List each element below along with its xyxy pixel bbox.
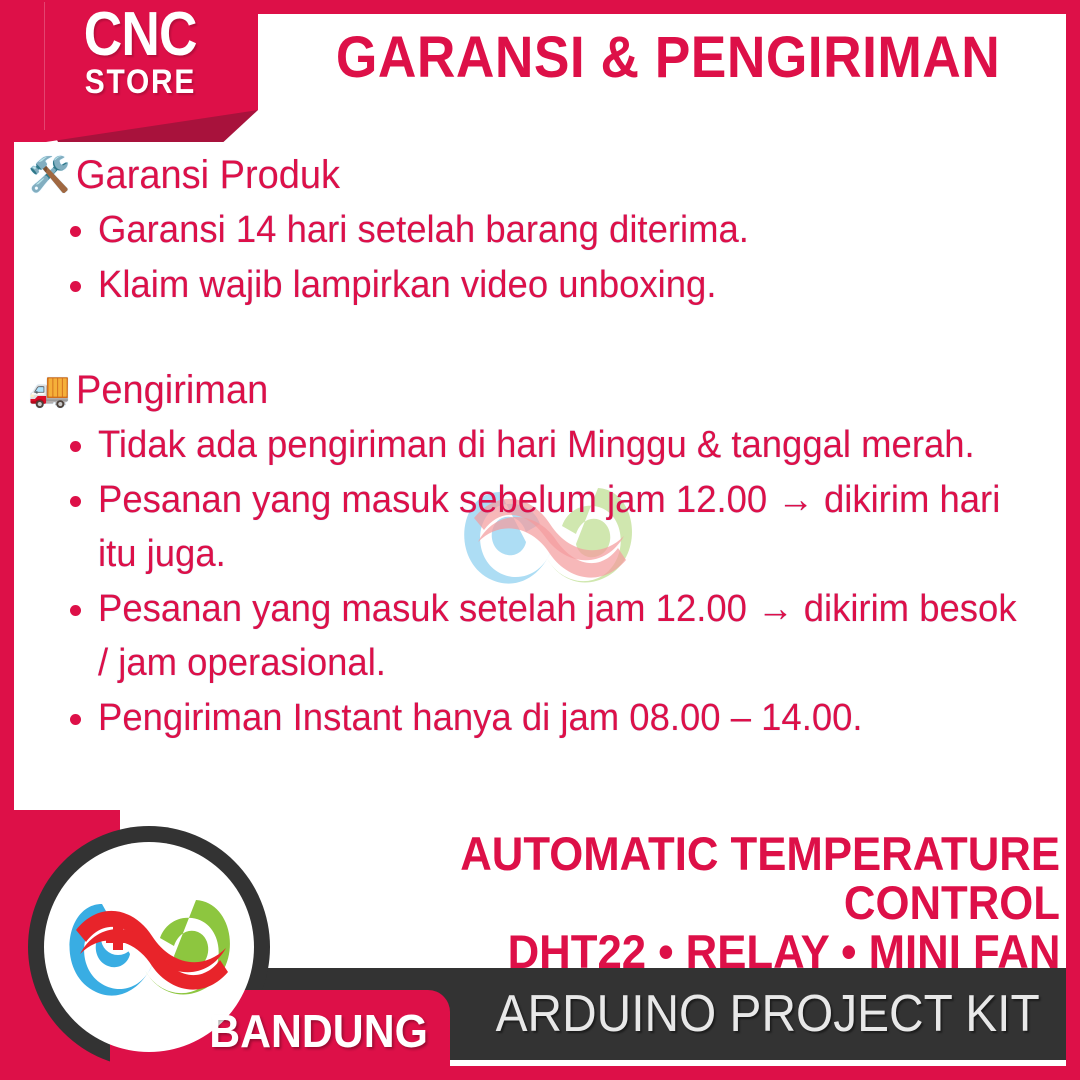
bottom-bar-label: ARDUINO PROJECT KIT [470, 968, 1066, 1060]
policy-content: 🛠️ Garansi Produk Garansi 14 hari setela… [14, 150, 1066, 810]
delivery-truck-icon: 🚚 [28, 373, 68, 407]
logo-line-cnc: CNC [18, 6, 240, 65]
warranty-list: Garansi 14 hari setelah barang diterima.… [14, 204, 1066, 313]
section-spacer [14, 317, 1066, 365]
list-item: Tidak ada pengiriman di hari Minggu & ta… [68, 419, 1066, 473]
city-label: BANDUNG [110, 990, 450, 1072]
page-title-text: GARANSI & PENGIRIMAN [336, 24, 1000, 91]
section-heading-warranty: 🛠️ Garansi Produk [14, 150, 1066, 200]
poster-root: GARANSI & PENGIRIMAN CNC STORE 🛠️ Garans… [0, 0, 1080, 1080]
list-item: Garansi 14 hari setelah barang diterima. [68, 204, 1066, 258]
list-item: Pengiriman Instant hanya di jam 08.00 – … [68, 692, 1066, 746]
list-item: Klaim wajib lampirkan video unboxing. [68, 259, 1066, 313]
tools-icon: 🛠️ [28, 158, 68, 192]
shipping-list: Tidak ada pengiriman di hari Minggu & ta… [14, 419, 1066, 746]
section-warranty: 🛠️ Garansi Produk Garansi 14 hari setela… [14, 150, 1066, 313]
page-title: GARANSI & PENGIRIMAN [270, 14, 1066, 100]
product-title: AUTOMATIC TEMPERATURE CONTROL DHT22 • RE… [240, 830, 1060, 977]
section-heading-shipping: 🚚 Pengiriman [14, 365, 1066, 415]
product-title-line1: AUTOMATIC TEMPERATURE CONTROL [240, 830, 1060, 928]
list-item: Pesanan yang masuk sebelum jam 12.00 → d… [68, 474, 1066, 582]
list-item: Pesanan yang masuk setelah jam 12.00 → d… [68, 583, 1066, 691]
cnc-store-logo: CNC STORE [0, 6, 258, 101]
section-shipping: 🚚 Pengiriman Tidak ada pengiriman di har… [14, 365, 1066, 746]
logo-line-store: STORE [15, 65, 242, 101]
section-heading-warranty-text: Garansi Produk [76, 150, 340, 200]
section-heading-shipping-text: Pengiriman [76, 365, 268, 415]
